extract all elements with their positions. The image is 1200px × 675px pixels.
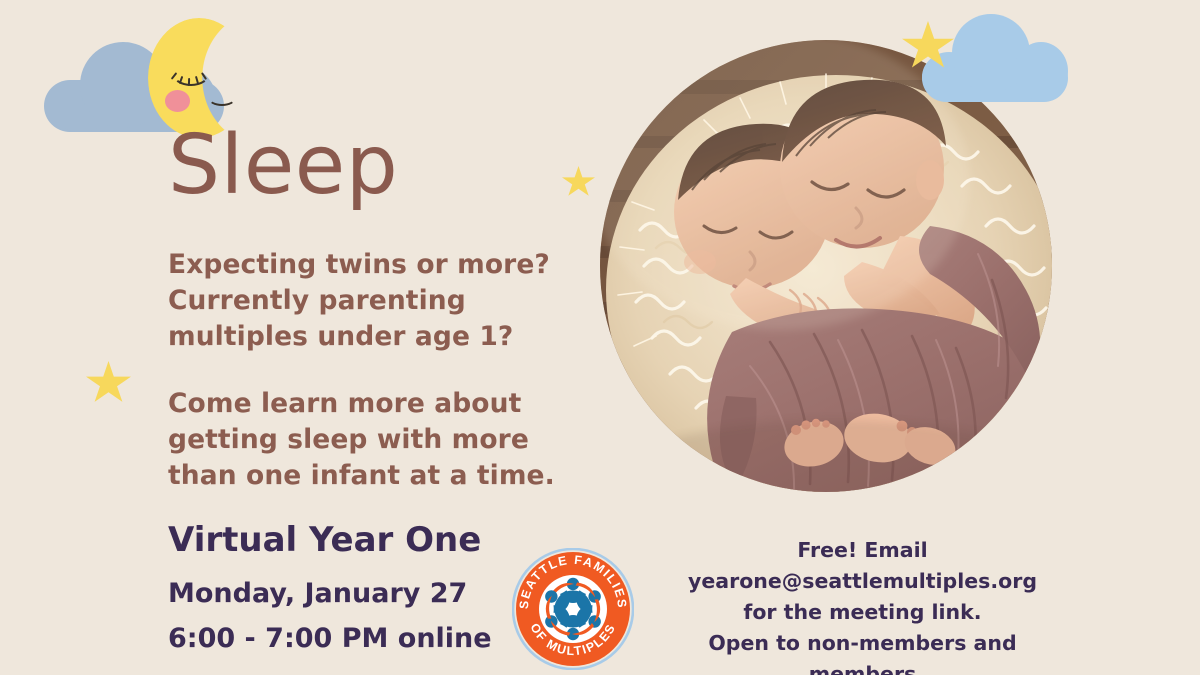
intro-line-3: multiples under age 1? (168, 319, 588, 355)
event-program-name: Virtual Year One (168, 520, 481, 560)
twins-photo (600, 40, 1052, 492)
intro-paragraph: Expecting twins or more? Currently paren… (168, 247, 588, 355)
description-paragraph: Come learn more about getting sleep with… (168, 386, 568, 494)
page-title: Sleep (168, 123, 398, 209)
info-line-email: Free! Email yearone@seattlemultiples.org (655, 535, 1070, 597)
event-time: 6:00 - 7:00 PM online (168, 622, 492, 656)
info-line-open-to: Open to non-members and members (655, 628, 1070, 675)
poster-canvas: Sleep Expecting twins or more? Currently… (0, 0, 1200, 675)
event-date: Monday, January 27 (168, 577, 467, 611)
description-line-3: than one infant at a time. (168, 458, 568, 494)
registration-info: Free! Email yearone@seattlemultiples.org… (655, 535, 1070, 675)
seattle-families-of-multiples-logo: SEATTLE FAMILIES OF MULTIPLES (512, 548, 634, 670)
description-line-2: getting sleep with more (168, 422, 568, 458)
description-line-1: Come learn more about (168, 386, 568, 422)
intro-line-2: Currently parenting (168, 283, 588, 319)
star-icon-left (86, 361, 131, 405)
intro-line-1: Expecting twins or more? (168, 247, 588, 283)
star-icon-middle (562, 166, 595, 198)
info-line-meeting-link: for the meeting link. (655, 597, 1070, 628)
cloud-right-icon (922, 14, 1068, 102)
